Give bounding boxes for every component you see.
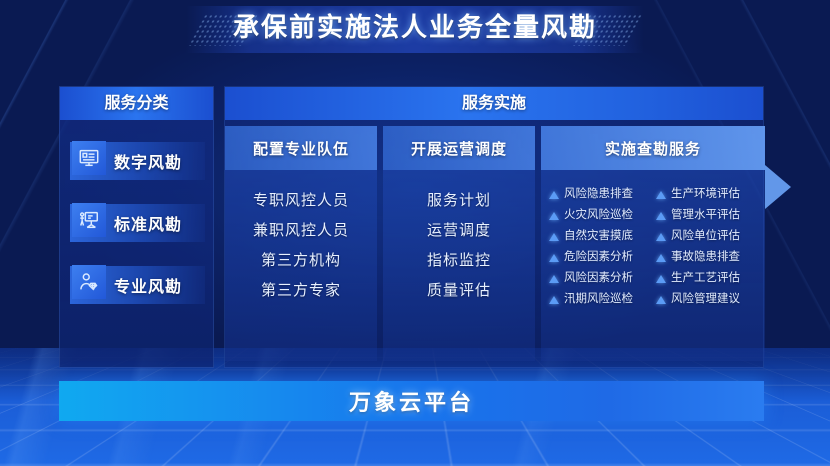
list-item[interactable]: 生产环境评估 (656, 184, 759, 205)
list-item-label: 管理水平评估 (671, 205, 740, 226)
column-operations: 开展运营调度 服务计划 运营调度 指标监控 质量评估 (383, 126, 535, 361)
list-item-label: 火灾风险巡检 (564, 205, 633, 226)
platform-banner-label: 万象云平台 (349, 385, 474, 417)
arrow-right-icon (765, 165, 791, 209)
page-title: 承保前实施法人业务全量风勘 (0, 7, 830, 44)
list-item[interactable]: 自然灾害摸底 (549, 226, 652, 247)
list-item[interactable]: 风险管理建议 (656, 289, 759, 310)
list-item[interactable]: 风险隐患排查 (549, 184, 652, 205)
list-item[interactable]: 运营调度 (383, 216, 535, 246)
triangle-bullet-icon (549, 254, 559, 262)
service-category-panel: 服务分类 数字风勘 (59, 86, 214, 368)
survey-sub-column-right: 生产环境评估 管理水平评估 风险单位评估 事故隐患排查 生产工艺评估 风险管理建… (656, 184, 759, 310)
list-item[interactable]: 危险因素分析 (549, 247, 652, 268)
list-item-label: 风险隐患排查 (564, 184, 633, 205)
service-category-list: 数字风勘 标准风勘 (60, 120, 213, 304)
list-item[interactable]: 风险单位评估 (656, 226, 759, 247)
triangle-bullet-icon (656, 254, 666, 262)
category-item-label: 专业风勘 (114, 273, 182, 297)
implementation-columns: 配置专业队伍 专职风控人员 兼职风控人员 第三方机构 第三方专家 开展运营调度 … (225, 126, 763, 361)
triangle-bullet-icon (656, 212, 666, 220)
survey-sub-column-left: 风险隐患排查 火灾风险巡检 自然灾害摸底 危险因素分析 风险因素分析 汛期风险巡… (549, 184, 652, 310)
list-item[interactable]: 第三方机构 (225, 246, 377, 276)
list-item[interactable]: 事故隐患排查 (656, 247, 759, 268)
survey-item-grid: 风险隐患排查 火灾风险巡检 自然灾害摸底 危险因素分析 风险因素分析 汛期风险巡… (541, 170, 765, 310)
triangle-bullet-icon (656, 275, 666, 283)
column-title: 配置专业队伍 (225, 126, 377, 170)
column-body: 专职风控人员 兼职风控人员 第三方机构 第三方专家 (225, 170, 377, 306)
list-item[interactable]: 第三方专家 (225, 276, 377, 306)
platform-banner[interactable]: 万象云平台 (59, 381, 764, 421)
list-item[interactable]: 风险因素分析 (549, 268, 652, 289)
list-item[interactable]: 指标监控 (383, 246, 535, 276)
list-item[interactable]: 质量评估 (383, 276, 535, 306)
triangle-bullet-icon (656, 233, 666, 241)
slide-canvas: 承保前实施法人业务全量风勘 服务分类 数字风勘 (0, 0, 830, 466)
list-item-label: 风险因素分析 (564, 268, 633, 289)
column-body: 服务计划 运营调度 指标监控 质量评估 (383, 170, 535, 306)
list-item-label: 汛期风险巡检 (564, 289, 633, 310)
category-item-professional[interactable]: 专业风勘 (70, 266, 205, 304)
list-item-label: 事故隐患排查 (671, 247, 740, 268)
category-item-label: 数字风勘 (114, 149, 182, 173)
list-item-label: 危险因素分析 (564, 247, 633, 268)
list-item[interactable]: 生产工艺评估 (656, 268, 759, 289)
column-title: 开展运营调度 (383, 126, 535, 170)
list-item[interactable]: 服务计划 (383, 186, 535, 216)
triangle-bullet-icon (549, 275, 559, 283)
service-implementation-panel: 服务实施 配置专业队伍 专职风控人员 兼职风控人员 第三方机构 第三方专家 开展… (224, 86, 764, 368)
list-item[interactable]: 汛期风险巡检 (549, 289, 652, 310)
list-item[interactable]: 火灾风险巡检 (549, 205, 652, 226)
triangle-bullet-icon (656, 191, 666, 199)
list-item[interactable]: 专职风控人员 (225, 186, 377, 216)
column-survey-service: 实施查勘服务 风险隐患排查 火灾风险巡检 自然灾害摸底 危险因素分析 风险因素分… (541, 126, 765, 361)
column-staffing: 配置专业队伍 专职风控人员 兼职风控人员 第三方机构 第三方专家 (225, 126, 377, 361)
presentation-board-icon (72, 203, 106, 237)
triangle-bullet-icon (549, 233, 559, 241)
list-item-label: 生产环境评估 (671, 184, 740, 205)
person-expert-icon (72, 265, 106, 299)
list-item[interactable]: 管理水平评估 (656, 205, 759, 226)
list-item[interactable]: 兼职风控人员 (225, 216, 377, 246)
list-item-label: 生产工艺评估 (671, 268, 740, 289)
list-item-label: 风险管理建议 (671, 289, 740, 310)
triangle-bullet-icon (549, 212, 559, 220)
column-title: 实施查勘服务 (541, 126, 765, 170)
list-item-label: 风险单位评估 (671, 226, 740, 247)
triangle-bullet-icon (549, 191, 559, 199)
triangle-bullet-icon (656, 296, 666, 304)
category-item-standard[interactable]: 标准风勘 (70, 204, 205, 242)
monitor-screen-icon (72, 141, 106, 175)
service-category-header: 服务分类 (60, 87, 213, 120)
list-item-label: 自然灾害摸底 (564, 226, 633, 247)
triangle-bullet-icon (549, 296, 559, 304)
category-item-label: 标准风勘 (114, 211, 182, 235)
service-implementation-header: 服务实施 (225, 87, 763, 120)
category-item-digital[interactable]: 数字风勘 (70, 142, 205, 180)
